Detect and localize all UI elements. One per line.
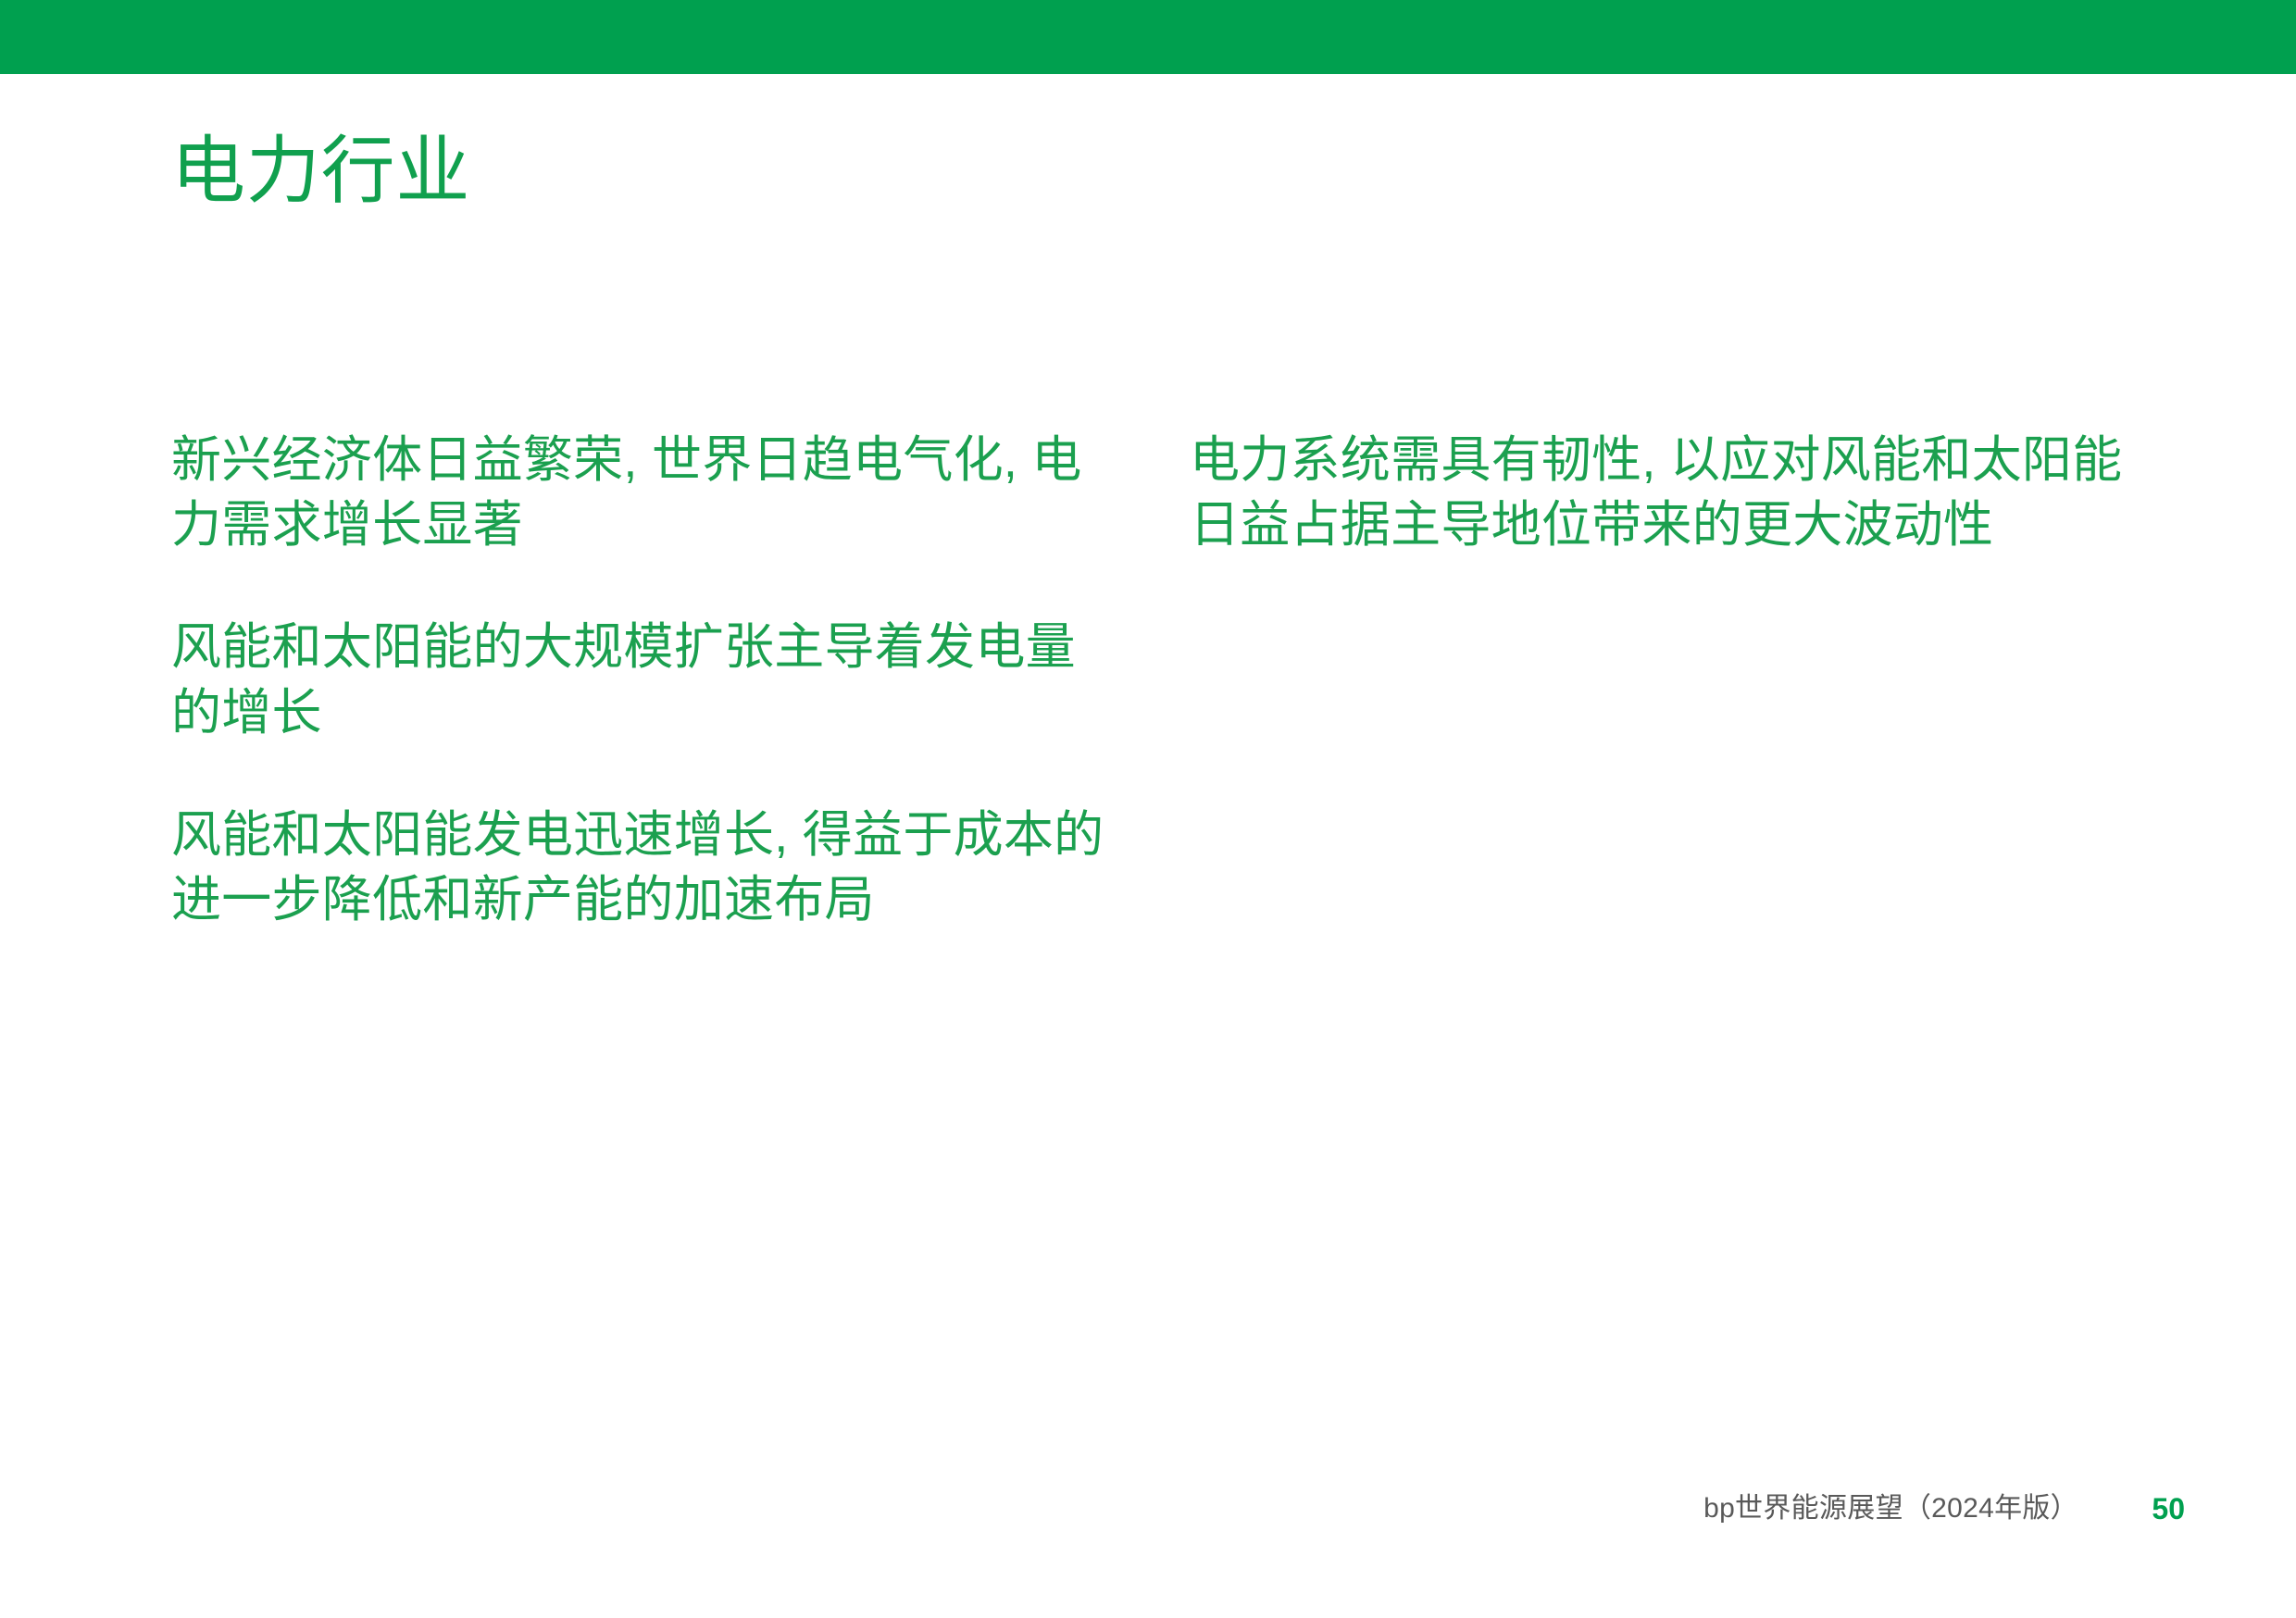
right-text-column: 电力系统需具有韧性, 以应对风能和太阳能日益占据主导地位带来的更大波动性 bbox=[1190, 428, 2134, 557]
page-number: 50 bbox=[2152, 1490, 2185, 1527]
body-content-area: 新兴经济体日益繁荣, 世界日趋电气化, 电力需求增长显著 风能和太阳能的大规模扩… bbox=[171, 428, 2134, 1261]
bullet-left-3: 风能和太阳能发电迅速增长, 得益于成本的进一步降低和新产能的加速布局 bbox=[171, 803, 1116, 932]
footer-source-label: bp世界能源展望（2024年版） bbox=[1703, 1490, 2078, 1527]
bullet-left-2: 风能和太阳能的大规模扩张主导着发电量的增长 bbox=[171, 615, 1116, 744]
slide-footer: bp世界能源展望（2024年版） 50 bbox=[0, 1490, 2296, 1546]
page-title: 电力行业 bbox=[171, 132, 470, 210]
slide-canvas: 电力行业 新兴经济体日益繁荣, 世界日趋电气化, 电力需求增长显著 风能和太阳能… bbox=[0, 0, 2296, 1618]
header-green-band bbox=[0, 0, 2296, 74]
bullet-left-1: 新兴经济体日益繁荣, 世界日趋电气化, 电力需求增长显著 bbox=[171, 428, 1116, 557]
left-text-column: 新兴经济体日益繁荣, 世界日趋电气化, 电力需求增长显著 风能和太阳能的大规模扩… bbox=[171, 428, 1116, 932]
bullet-right-1: 电力系统需具有韧性, 以应对风能和太阳能日益占据主导地位带来的更大波动性 bbox=[1190, 428, 2134, 557]
